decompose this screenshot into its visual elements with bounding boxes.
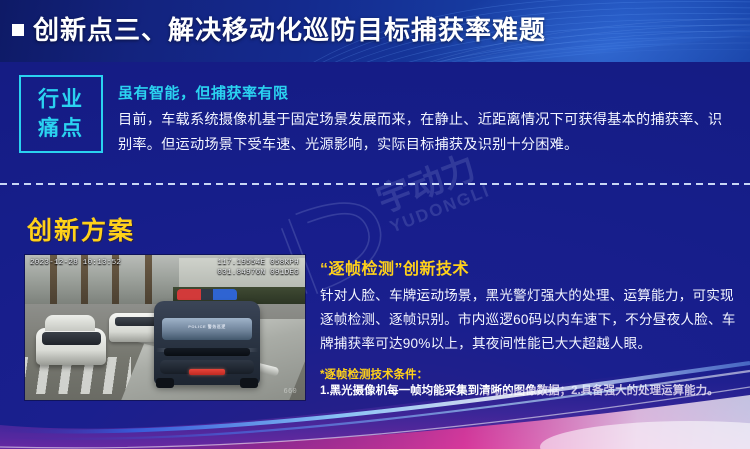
police-body: POLICE 警务巡逻 警 POLICE 警 — [154, 301, 260, 386]
photo-police-van: POLICE 警务巡逻 警 POLICE 警 — [154, 287, 260, 386]
photo-overlay-line1: 117.19554E 058KPH — [217, 259, 299, 267]
photo-white-car-left — [36, 328, 106, 366]
photo-tree — [145, 255, 152, 307]
watermark-text-en: YUDONGLI — [387, 181, 493, 237]
technology-title: “逐帧检测”创新技术 — [320, 255, 469, 279]
section-divider — [0, 183, 750, 185]
police-text-top: POLICE 警务巡逻 — [154, 324, 260, 330]
dashcam-photo: POLICE 警务巡逻 警 POLICE 警 2023-12-28 10:13:… — [25, 255, 305, 400]
pain-point-badge: 行业 痛点 — [19, 75, 103, 153]
technology-note-title: *逐帧检测技术条件： — [320, 366, 428, 382]
square-bullet-icon — [12, 24, 24, 36]
section-title: 创新方案 — [27, 211, 135, 247]
pain-point-badge-line2: 痛点 — [38, 115, 84, 142]
watermark-logo: 宇动力 YUDONGLI — [262, 150, 562, 260]
police-wheel — [156, 378, 174, 388]
police-wheel — [240, 378, 258, 388]
photo-timestamp: 2023-12-28 10:13:52 — [30, 259, 121, 267]
pain-point-body: 目前，车载系统摄像机基于固定场景发展而来，在静止、近距离情况下可获得基本的捕获率… — [118, 108, 728, 158]
police-lightbar — [177, 289, 237, 300]
page-title: 创新点三、解决移动化巡防目标捕获率难题 — [33, 12, 546, 48]
technology-note-body: 1.黑光摄像机每一帧均能采集到清晰的图像数据；2.具备强大的处理运算能力。 — [320, 383, 745, 399]
header-banner: 创新点三、解决移动化巡防目标捕获率难题 — [0, 0, 750, 62]
technology-body: 针对人脸、车牌运动场景，黑光警灯强大的处理、运算能力，可实现逐帧检测、逐帧识别。… — [320, 284, 740, 356]
photo-corner-label: 660 — [283, 388, 297, 396]
photo-overlay-line2: 031.84976N 091DEG — [217, 269, 299, 277]
pain-point-headline: 虽有智能，但捕获率有限 — [118, 82, 289, 103]
police-license-plate — [189, 369, 225, 376]
pain-point-badge-line1: 行业 — [38, 86, 84, 113]
police-grille — [164, 348, 249, 356]
slide-canvas: 创新点三、解决移动化巡防目标捕获率难题 宇动力 YUDONGLI 行业 痛点 虽… — [0, 0, 750, 449]
